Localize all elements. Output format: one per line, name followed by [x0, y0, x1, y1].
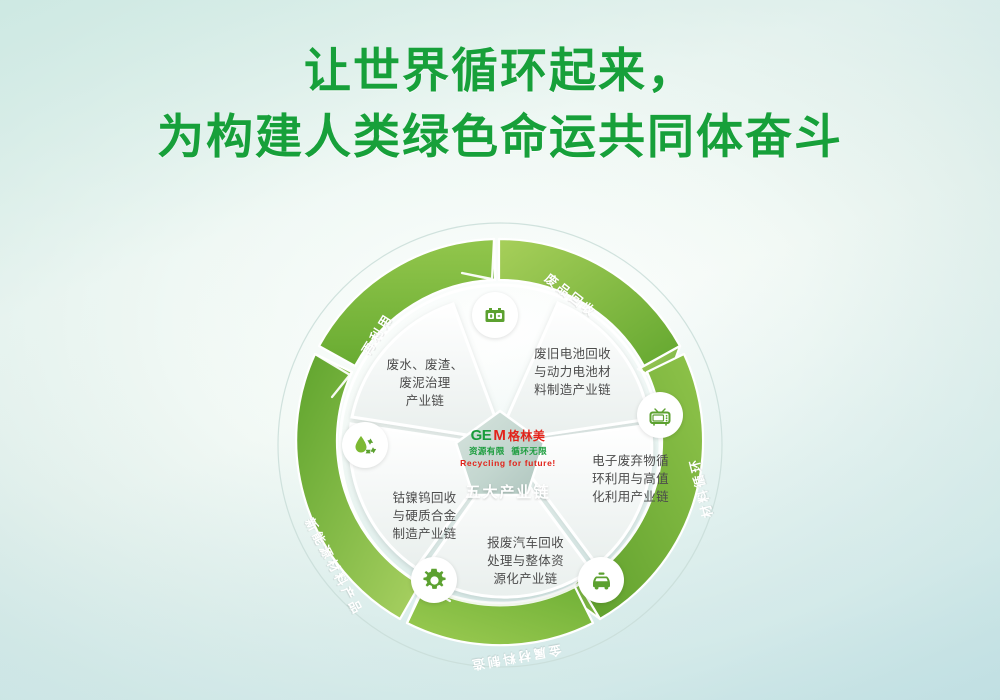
logo-brand-latin: GE: [471, 428, 492, 443]
chain-label-battery: 废旧电池回收 与动力电池材 料制造产业链: [515, 345, 630, 399]
gear-icon: [411, 557, 457, 603]
logo-brand-m: M: [493, 428, 506, 443]
chain-label-water: 废水、废渣、 废泥治理 产业链: [365, 356, 485, 410]
battery-icon: [472, 292, 518, 338]
logo-slogan-left: 资源有限: [469, 446, 505, 456]
center-title: 五大产业链: [448, 481, 568, 502]
logo-brand-row: GE M 格林美: [448, 428, 568, 443]
gem-logo: GE M 格林美 资源有限 循环无限 Recycling for future!: [448, 428, 568, 468]
chain-label-car: 报废汽车回收 处理与整体资 源化产业链: [468, 534, 583, 588]
page-title: 让世界循环起来， 为构建人类绿色命运共同体奋斗: [0, 40, 1000, 168]
headline-line-1: 让世界循环起来，: [0, 40, 1000, 102]
logo-slogan-en: Recycling for future!: [448, 458, 568, 468]
chain-label-ewaste: 电子废弃物循 环利用与高值 化利用产业链: [578, 452, 683, 506]
water-recycle-icon: [342, 422, 388, 468]
logo-slogan-row: 资源有限 循环无限: [448, 445, 568, 457]
tv-icon: [637, 392, 683, 438]
car-icon: [578, 557, 624, 603]
headline-line-2: 为构建人类绿色命运共同体奋斗: [0, 106, 1000, 168]
logo-brand-cn: 格林美: [508, 430, 546, 442]
logo-slogan-right: 循环无限: [511, 446, 547, 456]
